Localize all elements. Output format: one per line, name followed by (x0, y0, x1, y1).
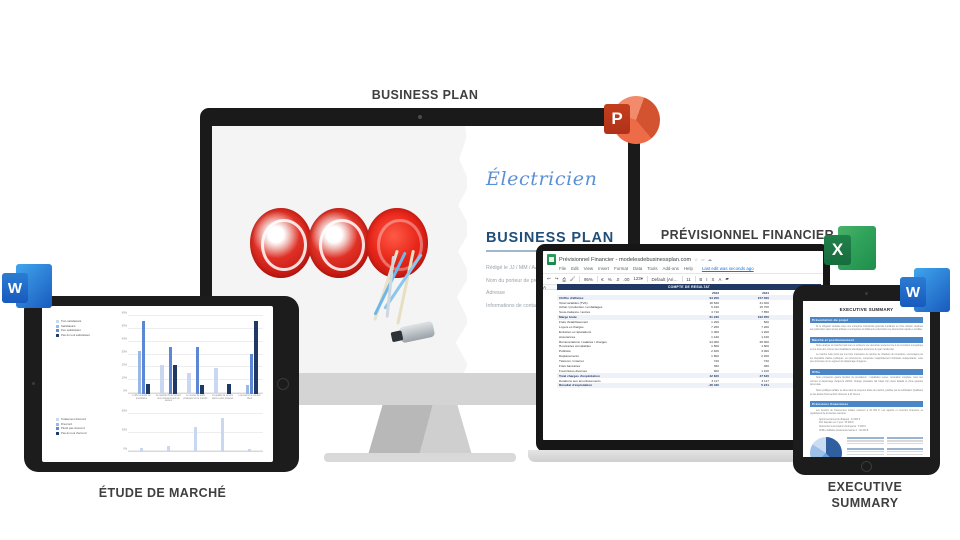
document-paragraph: Notre analyse du marché local met en évi… (810, 345, 923, 352)
table-row[interactable]: Résultat d'exploitation-28 4305 24161 40… (557, 383, 821, 388)
menu-tools[interactable]: Tools (647, 266, 657, 271)
legend-item: D'accord (56, 423, 114, 426)
chart-bar (142, 321, 146, 394)
laptop: Prévisionnel Financier - modelesdebusine… (528, 244, 838, 466)
font-family-select[interactable]: Default (Ari… (651, 277, 677, 282)
chart-bar (194, 427, 198, 452)
bar-group (182, 316, 209, 394)
sheets-titlebar: Prévisionnel Financier - modelesdebusine… (543, 251, 823, 266)
bar-group (155, 316, 182, 394)
x-tick-label (155, 452, 182, 462)
table-cell[interactable]: -28 430 (673, 383, 721, 388)
legend-swatch (56, 427, 59, 430)
chart-bar (221, 418, 225, 452)
chart-legend: Totalement d'accordD'accordPlutôt pas d'… (56, 418, 114, 437)
laptop-deck (528, 450, 838, 462)
document-paragraph: Nous proposons quatre familles de presta… (810, 377, 923, 388)
chart-bar (214, 368, 218, 394)
x-axis-labels: L'offre actuelle de prestationsLa rapidi… (128, 394, 263, 408)
menu-edit[interactable]: Edit (571, 266, 579, 271)
x-tick-label: L'offre actuelle de prestations (128, 394, 155, 408)
sheets-title-actions: ☆ ▱ ☁ (694, 257, 712, 263)
legend-label: Très satisfaisant (61, 320, 81, 323)
figure-cell (887, 448, 924, 456)
zoom-level[interactable]: 95% (584, 277, 593, 282)
laptop-lid: Prévisionnel Financier - modelesdebusine… (536, 244, 830, 452)
legend-item: Très satisfaisant (56, 320, 114, 323)
y-tick: 0% (123, 448, 127, 451)
word-icon: W (2, 264, 54, 312)
chart-bar (173, 365, 177, 394)
move-to-drive-icon[interactable]: ▱ (701, 257, 704, 263)
legend-item: Peu satisfaisant (56, 329, 114, 332)
income-statement-block: COMPTE DE RESULTAT 2023 2024 2025 (557, 284, 821, 440)
document-figures (810, 437, 923, 457)
plug-icon (399, 321, 436, 344)
y-axis-ticks: 0%10%20%30%40%50%60% (116, 316, 128, 394)
socket-icon (308, 208, 370, 278)
home-button[interactable] (277, 378, 289, 390)
menu-insert[interactable]: Insert (598, 266, 609, 271)
caption-business-plan: BUSINESS PLAN (300, 88, 550, 104)
front-camera-icon (865, 292, 868, 295)
word-letter: W (900, 277, 926, 307)
star-icon[interactable]: ☆ (694, 257, 698, 263)
sheets-logo-icon (547, 254, 556, 265)
electrical-sockets-photo (250, 204, 435, 294)
y-tick: 40% (122, 338, 127, 341)
powerpoint-letter: P (604, 104, 630, 134)
word-icon: W (900, 268, 952, 316)
font-size-select[interactable]: 11 (686, 277, 691, 282)
figure-row (847, 437, 923, 445)
bar-group (128, 414, 155, 452)
percent-icon[interactable]: % (608, 277, 612, 282)
print-icon[interactable]: ⎙ (562, 277, 566, 282)
pie-chart (810, 437, 842, 457)
excel-letter: X (824, 235, 851, 265)
x-tick-label: Le niveau de tarifs pratiqués sur le mar… (182, 394, 209, 408)
chart-bar (169, 347, 173, 394)
chart-bar (146, 384, 150, 394)
legend-label: Satisfaisant (61, 325, 75, 328)
chart-bar (254, 321, 258, 394)
bar-group (236, 414, 263, 452)
italic-icon[interactable]: I (706, 277, 707, 282)
word-document: EXECUTIVE SUMMARY Présentation du projet… (803, 301, 930, 457)
x-tick-label (209, 452, 236, 462)
tablet-screen: Très satisfaisantSatisfaisantPeu satisfa… (42, 306, 273, 462)
decrease-decimal-icon[interactable]: .0 (616, 277, 620, 282)
document-section-heading: Marché et positionnement (810, 337, 923, 343)
increase-decimal-icon[interactable]: .00 (623, 277, 629, 282)
menu-view[interactable]: View (584, 266, 593, 271)
bar-group (155, 414, 182, 452)
figure-table (847, 437, 923, 457)
x-axis-labels (128, 452, 263, 462)
document-bullet: Chiffre d'affaires prévisionnel année 1 … (819, 430, 923, 434)
legend-item: Pas du tout satisfaisant (56, 334, 114, 337)
x-tick-label (236, 452, 263, 462)
x-tick-label: L'accueil et le conseil client (236, 394, 263, 408)
powerpoint-icon: P (604, 92, 660, 148)
legend-item: Totalement d'accord (56, 418, 114, 421)
bar-group (236, 316, 263, 394)
y-tick: 60% (122, 312, 127, 315)
document-paragraph: M. le dirigeant souhaite créer une entre… (810, 326, 923, 333)
bar-group (209, 414, 236, 452)
legend-item: Plutôt pas d'accord (56, 427, 114, 430)
legend-label: Pas du tout satisfaisant (61, 334, 90, 337)
menu-format[interactable]: Format (614, 266, 628, 271)
figure-cell (847, 437, 884, 445)
legend-swatch (56, 325, 59, 328)
y-tick: 0% (123, 390, 127, 393)
legend-label: Totalement d'accord (61, 418, 86, 421)
x-tick-label: La rapidité d'intervention des professio… (155, 394, 182, 408)
document-section-heading: Offre (810, 369, 923, 375)
y-tick: 60% (122, 410, 127, 413)
monitor-stand (368, 405, 472, 455)
bold-icon[interactable]: B (699, 277, 702, 282)
scene: BUSINESS PLAN PRÉVISIONNEL FINANCIER ÉTU… (0, 0, 960, 540)
y-tick: 30% (122, 429, 127, 432)
chart-bars (128, 414, 263, 452)
bar-group (209, 316, 236, 394)
y-tick: 20% (122, 364, 127, 367)
y-tick: 10% (122, 377, 127, 380)
figure-cell (847, 448, 884, 456)
front-camera-icon (32, 382, 35, 385)
cloud-status-icon[interactable]: ☁ (707, 257, 711, 263)
bar-group (128, 316, 155, 394)
table-cell[interactable]: 5 241 (721, 383, 771, 388)
laptop-screen: Prévisionnel Financier - modelesdebusine… (543, 251, 823, 440)
powerpoint-tile: P (604, 104, 630, 134)
menu-addons[interactable]: Add-ons (663, 266, 679, 271)
legend-label: Peu satisfaisant (61, 329, 81, 332)
menu-help[interactable]: Help (684, 266, 693, 271)
strikethrough-icon[interactable]: S (712, 277, 715, 282)
document-section-heading: Prévisions financières (810, 401, 923, 407)
document-paragraph: Les besoins de financement initiaux s'él… (810, 410, 923, 417)
legend-label: D'accord (61, 423, 72, 426)
home-button[interactable] (861, 461, 872, 472)
chart-bar (138, 351, 142, 394)
slide-script-title: Électricien (486, 168, 597, 190)
tablet-screen: EXECUTIVE SUMMARY Présentation du projet… (803, 301, 930, 457)
document-bullet-list: Apport personnel du dirigeant : 12 000 €… (819, 419, 923, 434)
y-tick: 30% (122, 351, 127, 354)
menu-file[interactable]: File (559, 266, 566, 271)
webcam-icon (418, 115, 422, 119)
legend-swatch (56, 418, 59, 421)
document-paragraph: Notre politique tarifaire se situe dans … (810, 390, 923, 397)
legend-swatch (56, 334, 59, 337)
excel-tile: X (824, 235, 851, 265)
caption-etude-de-marche: ÉTUDE DE MARCHÉ (50, 486, 275, 502)
document-paragraph: Le marché reste porté par une forte croi… (810, 354, 923, 365)
x-tick-label (128, 452, 155, 462)
tablet-frame: Très satisfaisantSatisfaisantPeu satisfa… (24, 296, 299, 472)
chart-bar (250, 354, 254, 394)
x-tick-label: La qualité du service après-vente propos… (209, 394, 236, 408)
chart-bar (200, 385, 204, 394)
legend-swatch (56, 329, 59, 332)
monitor-base (324, 453, 516, 462)
caption-previsionnel-financier: PRÉVISIONNEL FINANCIER (640, 228, 855, 244)
caption-executive-summary: EXECUTIVE SUMMARY (790, 480, 940, 511)
chart-plot: 0%10%20%30%40%50%60% L'offre actuelle de… (116, 316, 263, 408)
legend-item: Pas du tout d'accord (56, 432, 114, 435)
text-color-icon[interactable]: A (718, 277, 721, 282)
y-tick: 50% (122, 325, 127, 328)
market-study-chart-bottom: Totalement d'accordD'accordPlutôt pas d'… (56, 414, 265, 462)
legend-swatch (56, 320, 59, 323)
legend-swatch (56, 432, 59, 435)
word-tile: W (900, 277, 926, 307)
figure-row (847, 448, 923, 456)
sheets-grid[interactable]: COMPTE DE RESULTAT 2023 2024 2025 (543, 282, 823, 440)
document-section-heading: Présentation du projet (810, 317, 923, 323)
x-tick-label (182, 452, 209, 462)
last-edit-label[interactable]: Last edit was seconds ago (702, 266, 754, 271)
document-sections: Présentation du projetM. le dirigeant so… (810, 317, 923, 433)
chart-bar (227, 384, 231, 394)
y-axis-ticks: 0%30%60% (116, 414, 128, 452)
legend-item: Satisfaisant (56, 325, 114, 328)
sheets-menubar: File Edit View Insert Format Data Tools … (543, 266, 823, 273)
bar-group (182, 414, 209, 452)
word-letter: W (2, 273, 28, 303)
chart-bar (187, 373, 191, 394)
chart-bar (196, 347, 200, 394)
income-statement-table: 2023 2024 2025 Chiffre d'affaires94 2001… (557, 290, 821, 388)
google-sheets-app: Prévisionnel Financier - modelesdebusine… (543, 251, 823, 440)
figure-cell (887, 437, 924, 445)
chart-bar (160, 365, 164, 394)
tablet-market-study: Très satisfaisantSatisfaisantPeu satisfa… (24, 296, 299, 472)
chart-bar (246, 385, 250, 394)
sheets-document-title[interactable]: Prévisionnel Financier - modelesdebusine… (559, 257, 691, 263)
legend-label: Plutôt pas d'accord (61, 427, 85, 430)
row-label: Résultat d'exploitation (557, 383, 673, 388)
income-statement-body: Chiffre d'affaires94 200157 000219 800To… (557, 295, 821, 388)
chart-bars (128, 316, 263, 394)
socket-icon (250, 208, 312, 278)
currency-icon[interactable]: € (601, 277, 603, 282)
chart-plot: 0%30%60% (116, 414, 263, 462)
market-study-chart-top: Très satisfaisantSatisfaisantPeu satisfa… (56, 316, 265, 408)
legend-label: Pas du tout d'accord (61, 432, 86, 435)
legend-swatch (56, 423, 59, 426)
word-tile: W (2, 273, 28, 303)
chart-legend: Très satisfaisantSatisfaisantPeu satisfa… (56, 320, 114, 339)
menu-data[interactable]: Data (633, 266, 642, 271)
excel-icon: X (824, 226, 876, 278)
